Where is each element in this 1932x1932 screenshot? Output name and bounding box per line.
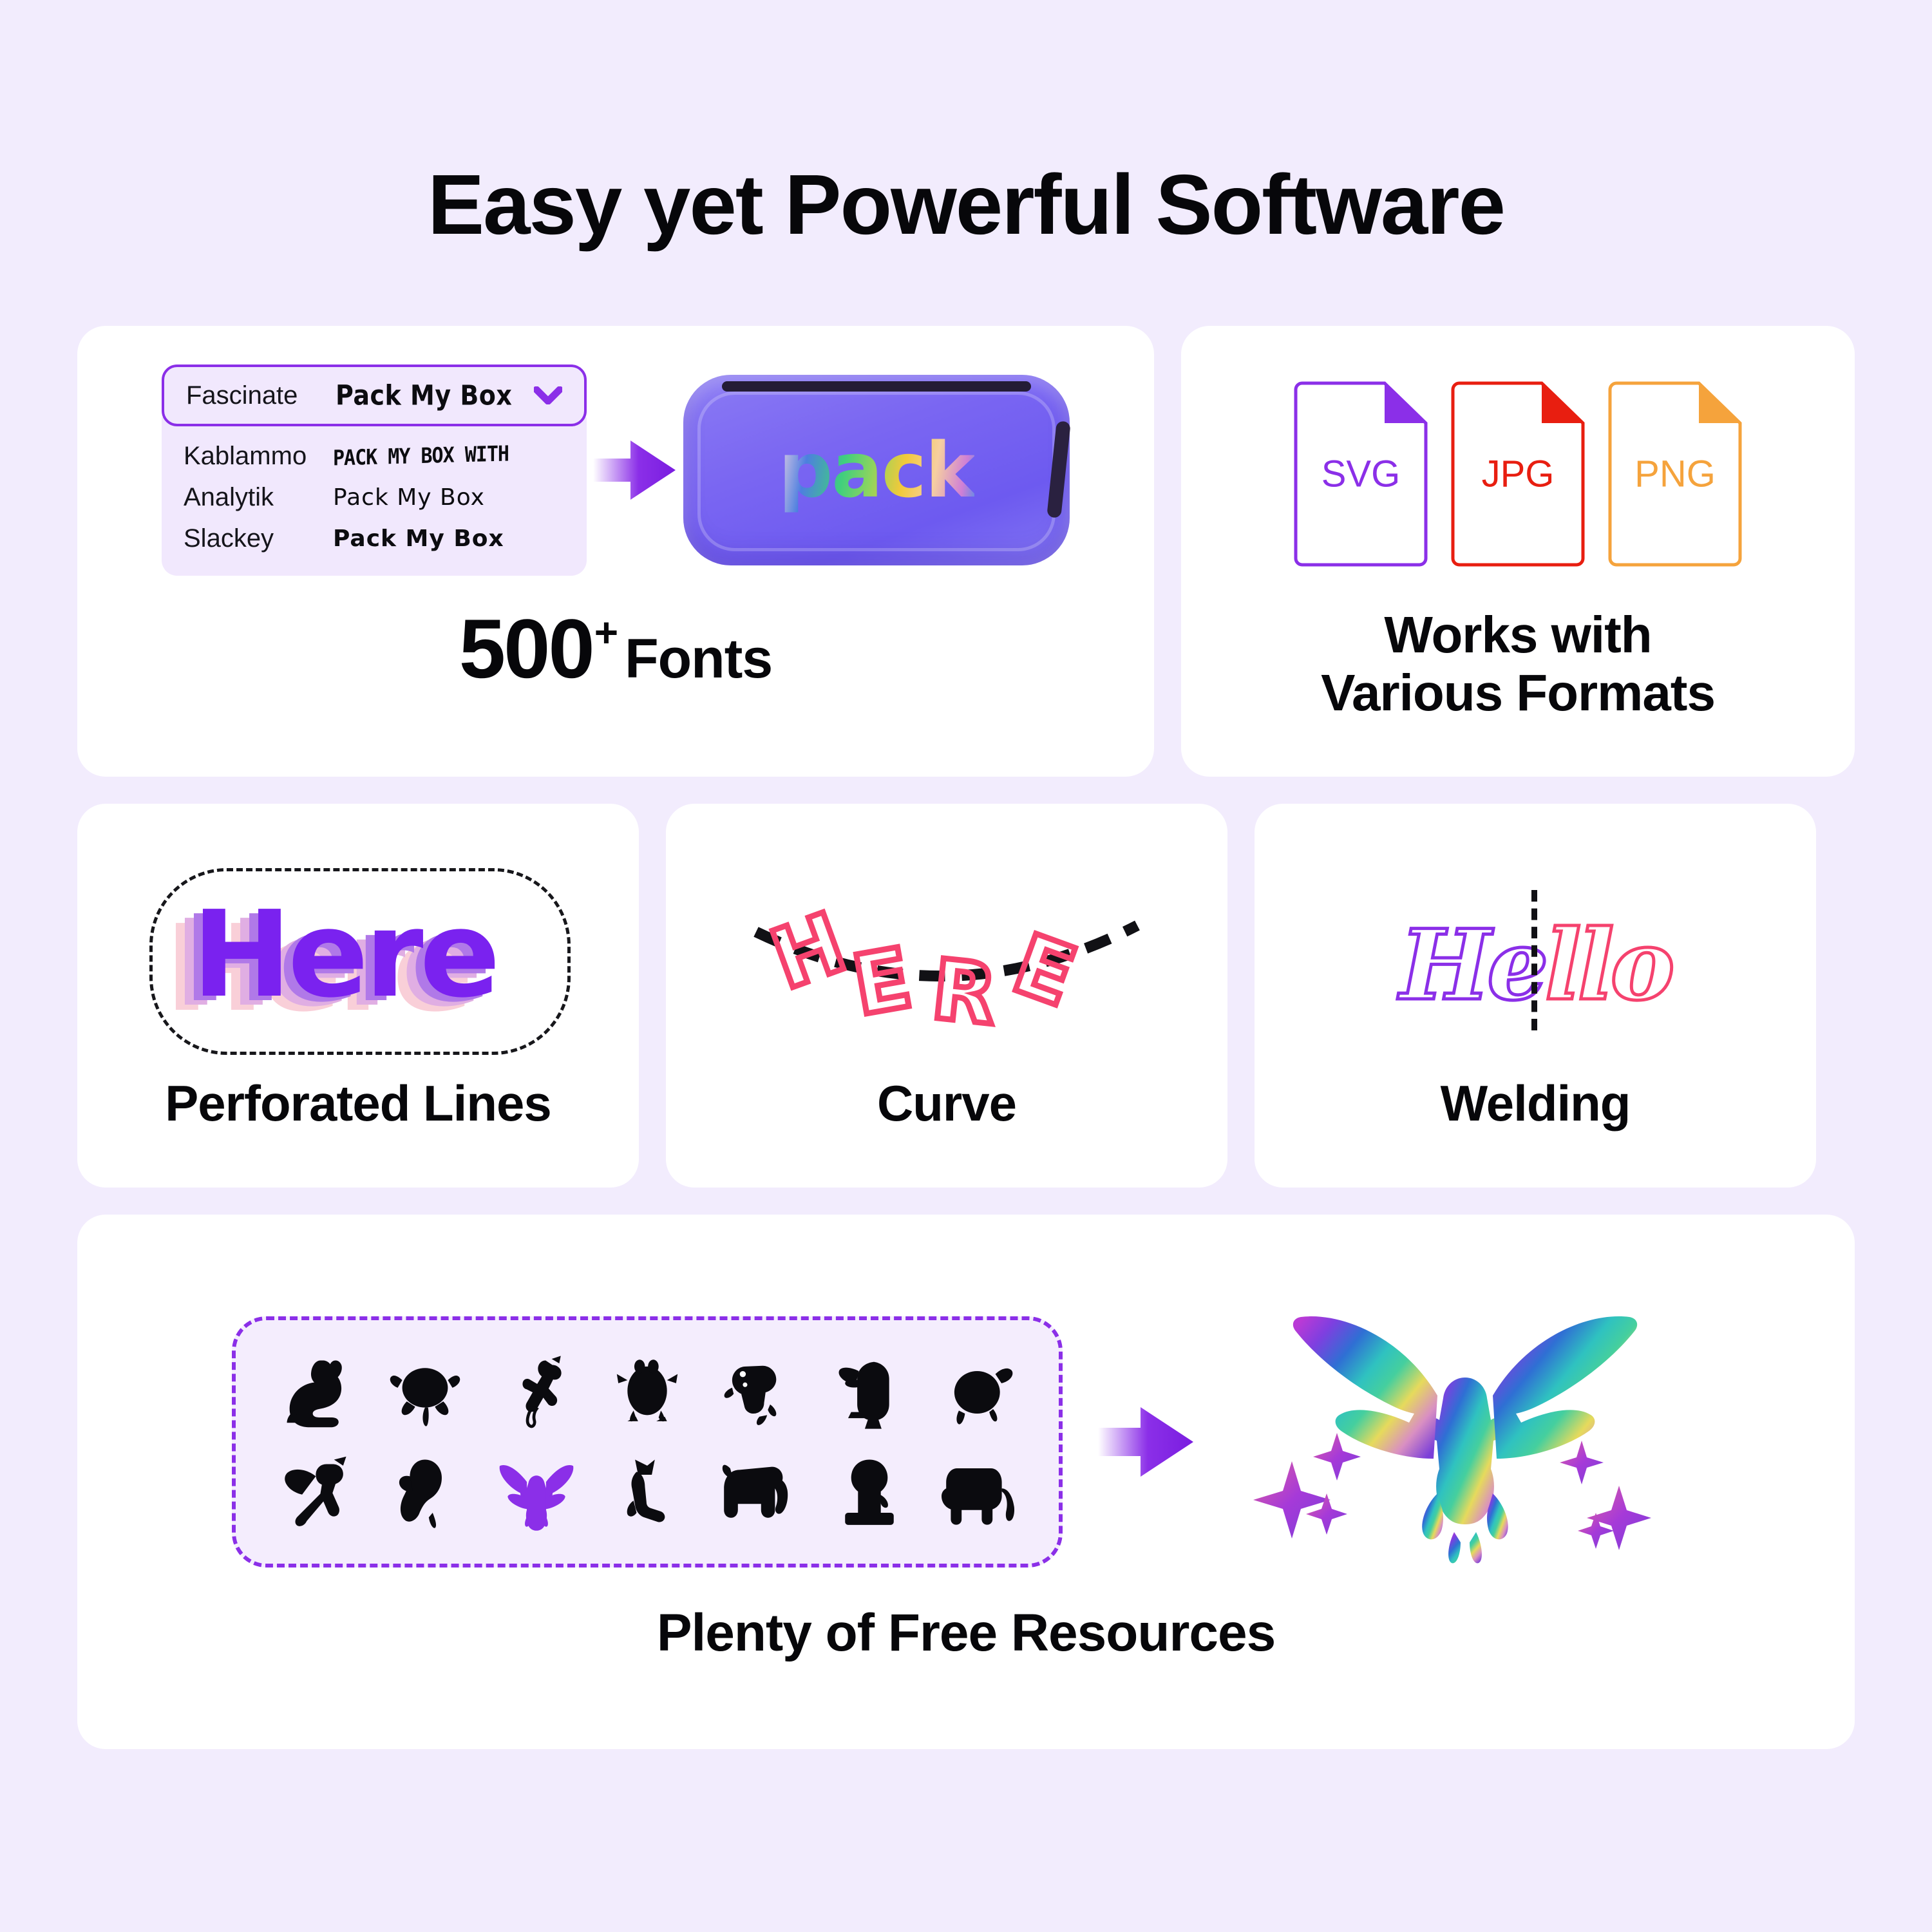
font-option-sample: Pack My Box bbox=[333, 526, 504, 552]
lion-statue-icon[interactable] bbox=[827, 1446, 912, 1537]
font-option-name: Slackey bbox=[184, 524, 333, 553]
card-resources: Plenty of Free Resources bbox=[77, 1215, 1855, 1749]
gecko-icon[interactable] bbox=[715, 1347, 800, 1437]
font-option-slackey[interactable]: Slackey Pack My Box bbox=[184, 518, 565, 559]
card-welding: Hello Welding bbox=[1255, 804, 1816, 1188]
fonts-demo: Fascinate Pack My Box Kablammo PACK MY B… bbox=[77, 326, 1154, 603]
feature-label-welding: Welding bbox=[1441, 1074, 1631, 1133]
font-option-sample: Pack My Box bbox=[333, 484, 485, 511]
curved-text: H E R E bbox=[747, 875, 1146, 1056]
clipart-row-1 bbox=[272, 1347, 1023, 1437]
tiger-icon[interactable] bbox=[938, 1446, 1023, 1537]
font-option-sample: PACK MY BOX WITH bbox=[333, 441, 509, 471]
curve-letter-r: R bbox=[927, 942, 1001, 1043]
feature-row-1: Fascinate Pack My Box Kablammo PACK MY B… bbox=[77, 326, 1855, 777]
font-sample-selected: Pack My Box bbox=[336, 379, 512, 411]
curve-art: H E R E bbox=[666, 859, 1227, 1072]
feature-label-perforated: Perforated Lines bbox=[165, 1074, 551, 1133]
card-perforated-lines: Here Here Here Here Perforated Lines bbox=[77, 804, 639, 1188]
font-option-analytik[interactable]: Analytik Pack My Box bbox=[184, 477, 565, 518]
here-layered-text: Here Here Here Here bbox=[165, 885, 551, 1046]
perforated-art: Here Here Here Here bbox=[77, 859, 639, 1072]
squirrel-icon[interactable] bbox=[272, 1347, 357, 1437]
font-dropdown[interactable]: Fascinate Pack My Box Kablammo PACK MY B… bbox=[162, 365, 587, 576]
resources-demo bbox=[77, 1300, 1855, 1584]
eagle-icon[interactable] bbox=[494, 1446, 579, 1537]
font-dropdown-options[interactable]: Kablammo PACK MY BOX WITH Analytik Pack … bbox=[162, 417, 587, 576]
welded-text: Hello bbox=[1336, 885, 1735, 1046]
feature-infographic: Easy yet Powerful Software Fascinate Pac… bbox=[0, 0, 1932, 1932]
cat-icon[interactable] bbox=[605, 1446, 690, 1537]
formats-caption: Works with Various Formats bbox=[1321, 606, 1715, 721]
fonts-count: 500 bbox=[459, 607, 593, 690]
fonts-count-caption: 500 + Fonts bbox=[459, 607, 772, 691]
weld-split-line bbox=[1531, 890, 1537, 1030]
pencil-case-product: pack bbox=[683, 375, 1070, 565]
jpg-file-icon: JPG bbox=[1450, 381, 1586, 567]
svg-file-icon: SVG bbox=[1293, 381, 1428, 567]
formats-caption-line2: Various Formats bbox=[1321, 664, 1715, 722]
card-curve: H E R E Curve bbox=[666, 804, 1227, 1188]
card-fonts: Fascinate Pack My Box Kablammo PACK MY B… bbox=[77, 326, 1154, 777]
font-option-name: Kablammo bbox=[184, 442, 333, 471]
welding-art: Hello bbox=[1255, 859, 1816, 1072]
frog-icon[interactable] bbox=[605, 1347, 690, 1437]
pouch-printed-text: pack bbox=[779, 426, 975, 515]
svg-file-label: SVG bbox=[1293, 453, 1428, 496]
arrow-right-icon bbox=[1082, 1405, 1211, 1479]
zipper bbox=[722, 381, 1031, 392]
toucan-icon[interactable] bbox=[827, 1347, 912, 1437]
fonts-count-plus: + bbox=[594, 609, 618, 656]
hummingbird-icon[interactable] bbox=[272, 1446, 357, 1537]
chevron-down-icon[interactable] bbox=[534, 386, 562, 404]
resources-caption: Plenty of Free Resources bbox=[657, 1603, 1275, 1663]
arrow-right-icon bbox=[587, 437, 683, 504]
feature-row-2: Here Here Here Here Perforated Lines bbox=[77, 804, 1855, 1188]
tortoise-icon[interactable] bbox=[938, 1347, 1023, 1437]
png-file-label: PNG bbox=[1607, 453, 1743, 496]
rooster-icon[interactable] bbox=[383, 1446, 468, 1537]
feature-row-3: Plenty of Free Resources bbox=[77, 1215, 1855, 1749]
fonts-count-label: Fonts bbox=[625, 627, 772, 691]
monkey-icon[interactable] bbox=[494, 1347, 579, 1437]
font-dropdown-selected[interactable]: Fascinate Pack My Box bbox=[162, 365, 587, 426]
turtle-icon[interactable] bbox=[383, 1347, 468, 1437]
feature-grid: Fascinate Pack My Box Kablammo PACK MY B… bbox=[77, 247, 1855, 1749]
clipart-library-panel[interactable] bbox=[232, 1316, 1063, 1567]
feature-label-curve: Curve bbox=[877, 1074, 1016, 1133]
card-formats: SVG JPG PNG bbox=[1181, 326, 1855, 777]
font-option-name: Analytik bbox=[184, 483, 333, 512]
file-format-icons: SVG JPG PNG bbox=[1293, 381, 1743, 567]
clipart-row-2 bbox=[272, 1446, 1023, 1537]
holographic-eagle-art bbox=[1230, 1300, 1700, 1584]
font-option-kablammo[interactable]: Kablammo PACK MY BOX WITH bbox=[184, 435, 565, 477]
page-title: Easy yet Powerful Software bbox=[0, 0, 1932, 247]
formats-caption-line1: Works with bbox=[1321, 606, 1715, 664]
weld-word-right: llo bbox=[1545, 909, 1671, 1022]
jpg-file-label: JPG bbox=[1450, 453, 1586, 496]
font-name-selected: Fascinate bbox=[186, 381, 336, 410]
zipper-pull bbox=[1046, 421, 1071, 518]
elephant-icon[interactable] bbox=[715, 1446, 800, 1537]
perforated-cut-outline bbox=[149, 868, 571, 1055]
png-file-icon: PNG bbox=[1607, 381, 1743, 567]
